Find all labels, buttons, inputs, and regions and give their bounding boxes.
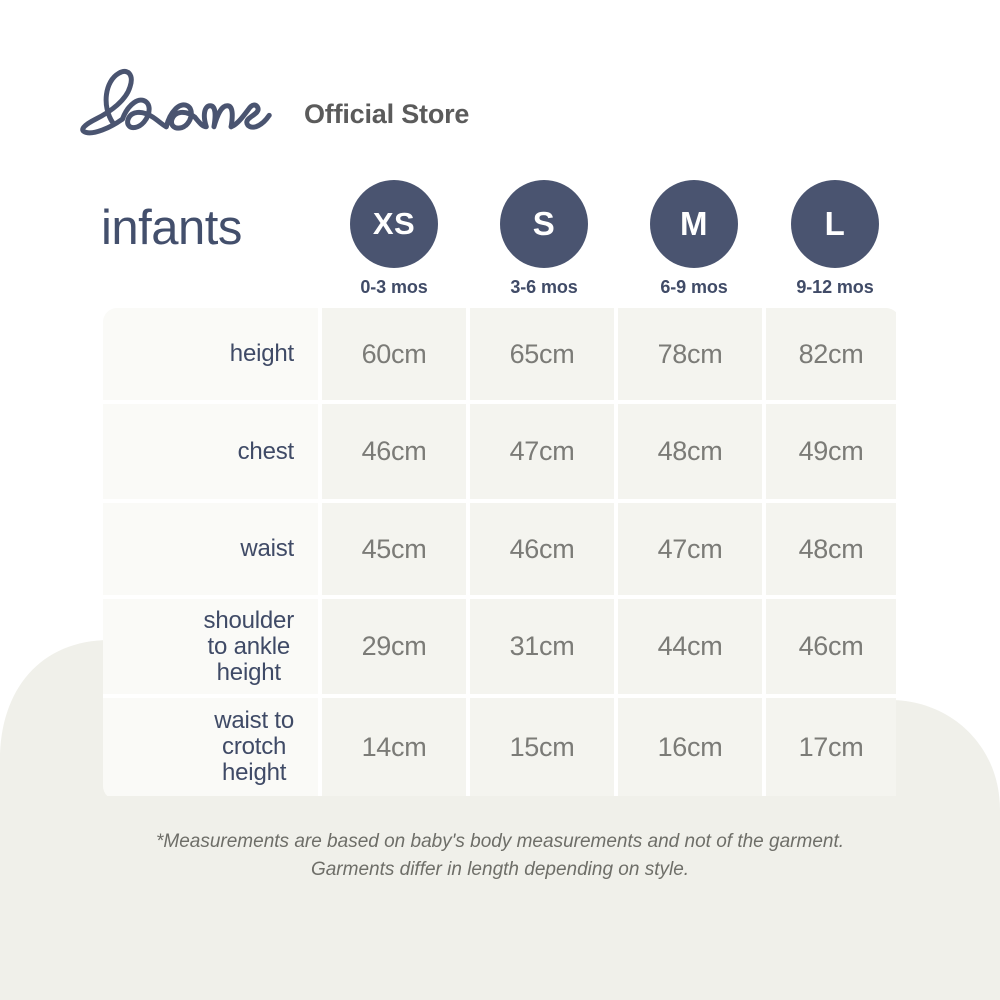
official-store-label: Official Store (304, 99, 469, 130)
size-age-l: 9-12 mos (796, 277, 873, 298)
label-line: height (204, 660, 294, 686)
cell-shoulder-to-ankle-m: 44cm (618, 599, 766, 694)
row-label-waist-to-crotch-height: waist to crotch height (103, 698, 322, 796)
table-row: waist to crotch height 14cm 15cm 16cm 17… (103, 698, 900, 796)
cell-height-s: 65cm (470, 308, 618, 400)
size-age-xs: 0-3 mos (360, 277, 427, 298)
size-column-s: S 3-6 mos (470, 180, 618, 300)
row-label-waist: waist (103, 503, 322, 595)
size-age-s: 3-6 mos (510, 277, 577, 298)
cell-chest-s: 47cm (470, 404, 618, 499)
cell-chest-m: 48cm (618, 404, 766, 499)
size-header-row: XS 0-3 mos S 3-6 mos M 6-9 mos L 9-12 mo… (318, 180, 900, 300)
footnote: *Measurements are based on baby's body m… (0, 828, 1000, 884)
cell-waist-to-crotch-xs: 14cm (322, 698, 470, 796)
cell-waist-to-crotch-l: 17cm (766, 698, 896, 796)
row-label-shoulder-to-ankle-height: shoulder to ankle height (103, 599, 322, 694)
size-badge-xs: XS (350, 180, 438, 268)
cell-waist-xs: 45cm (322, 503, 470, 595)
size-column-m: M 6-9 mos (618, 180, 770, 300)
cell-waist-l: 48cm (766, 503, 896, 595)
label-line: height (214, 760, 294, 786)
cell-shoulder-to-ankle-l: 46cm (766, 599, 896, 694)
brand-header: Official Store (66, 60, 469, 142)
measurements-table: height 60cm 65cm 78cm 82cm chest 46cm 47… (103, 308, 900, 800)
size-age-m: 6-9 mos (660, 277, 727, 298)
cell-shoulder-to-ankle-s: 31cm (470, 599, 618, 694)
cell-shoulder-to-ankle-xs: 29cm (322, 599, 470, 694)
size-chart-page: Official Store infants XS 0-3 mos S 3-6 … (0, 0, 1000, 1000)
cell-height-xs: 60cm (322, 308, 470, 400)
row-label-chest: chest (103, 404, 322, 499)
row-label-height: height (103, 308, 322, 400)
size-column-xs: XS 0-3 mos (318, 180, 470, 300)
label-line: waist to (214, 708, 294, 734)
size-column-l: L 9-12 mos (770, 180, 900, 300)
label-line: crotch (214, 734, 294, 760)
table-row: shoulder to ankle height 29cm 31cm 44cm … (103, 599, 900, 698)
size-badge-s: S (500, 180, 588, 268)
looms-script-logo-icon (66, 60, 278, 142)
cell-waist-to-crotch-m: 16cm (618, 698, 766, 796)
cell-height-l: 82cm (766, 308, 896, 400)
size-badge-m: M (650, 180, 738, 268)
cell-chest-l: 49cm (766, 404, 896, 499)
page-title: infants (101, 200, 242, 256)
table-row: height 60cm 65cm 78cm 82cm (103, 308, 900, 404)
label-line: shoulder (204, 608, 294, 634)
cell-chest-xs: 46cm (322, 404, 470, 499)
footnote-line-1: *Measurements are based on baby's body m… (0, 828, 1000, 856)
cell-waist-m: 47cm (618, 503, 766, 595)
cell-waist-to-crotch-s: 15cm (470, 698, 618, 796)
footnote-line-2: Garments differ in length depending on s… (0, 856, 1000, 884)
label-line: to ankle (204, 634, 294, 660)
table-row: chest 46cm 47cm 48cm 49cm (103, 404, 900, 503)
cell-height-m: 78cm (618, 308, 766, 400)
cell-waist-s: 46cm (470, 503, 618, 595)
table-row: waist 45cm 46cm 47cm 48cm (103, 503, 900, 599)
size-badge-l: L (791, 180, 879, 268)
